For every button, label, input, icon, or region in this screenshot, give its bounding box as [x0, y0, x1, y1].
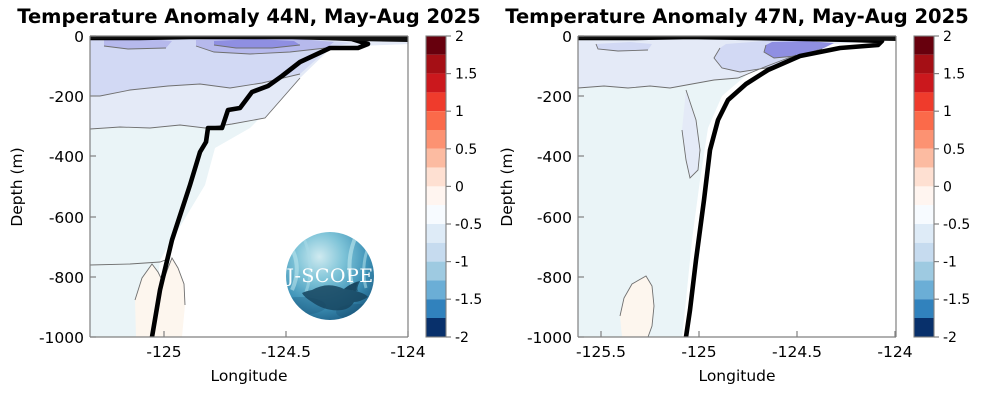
- colorbar-tick-label: -1.5: [943, 292, 970, 308]
- colorbar-tick-label: -1: [943, 255, 957, 271]
- panel-47n-colorbar: 2 1.5 1 0.5 0 -0.5 -1 -1.5 -2: [914, 29, 970, 346]
- panel-47n-ylabel: Depth (m): [500, 147, 516, 226]
- colorbar-tick-label: -2: [943, 330, 957, 346]
- colorbar-tick-label: -2: [455, 330, 469, 346]
- ytick-label: -800: [49, 269, 84, 287]
- ytick-label: 0: [74, 28, 84, 46]
- ytick-label: -600: [49, 209, 84, 227]
- temperature-anomaly-figure: Temperature Anomaly 44N, May-Aug 2025: [0, 0, 1000, 403]
- ytick-label: 0: [562, 28, 572, 46]
- panel-47n-plot-area: [578, 36, 896, 337]
- colorbar-tick-label: 0.5: [943, 142, 965, 158]
- colorbar-tick-label: 2: [943, 29, 952, 45]
- xtick-label: -125: [146, 343, 181, 361]
- panel-44n-svg: Temperature Anomaly 44N, May-Aug 2025: [0, 0, 500, 403]
- ytick-label: -400: [49, 148, 84, 166]
- panel-44n-xlabel: Longitude: [210, 367, 287, 385]
- panel-47n-svg: Temperature Anomaly 47N, May-Aug 2025: [500, 0, 1000, 403]
- colorbar-tick-label: 1: [943, 104, 952, 120]
- colorbar-tick-label: 1.5: [943, 67, 965, 83]
- colorbar-tick-label: -0.5: [455, 217, 482, 233]
- colorbar-swatches-44n: [426, 36, 446, 337]
- panel-44n-xaxis: -125 -124.5 -124 Longitude: [146, 331, 425, 385]
- panel-47n-title: Temperature Anomaly 47N, May-Aug 2025: [505, 5, 969, 28]
- panel-47n-yaxis: 0 -200 -400 -600 -800 -1000 Depth (m): [500, 28, 584, 347]
- colorbar-tick-label: 0: [455, 179, 464, 195]
- ytick-label: -200: [537, 88, 572, 106]
- panel-44n-yaxis: 0 -200 -400 -600 -800 -1000 Depth (m): [8, 28, 96, 347]
- ytick-label: -800: [537, 269, 572, 287]
- xtick-label: -124.5: [772, 343, 822, 361]
- panel-44n: Temperature Anomaly 44N, May-Aug 2025: [0, 0, 500, 403]
- colorbar-tick-label: -0.5: [943, 217, 970, 233]
- colorbar-tick-label: 0.5: [455, 142, 477, 158]
- colorbar-tick-label: 1.5: [455, 67, 477, 83]
- xtick-label: -124.5: [261, 343, 311, 361]
- colorbar-swatches-47n: [914, 36, 934, 337]
- ytick-label: -1000: [527, 329, 572, 347]
- ytick-label: -400: [537, 148, 572, 166]
- panel-44n-title: Temperature Anomaly 44N, May-Aug 2025: [17, 5, 481, 28]
- ytick-label: -200: [49, 88, 84, 106]
- panel-44n-colorbar: 2 1.5 1 0.5 0 -0.5 -1 -1.5 -2: [426, 29, 482, 346]
- panel-44n-ylabel: Depth (m): [8, 147, 26, 226]
- xtick-label: -124: [877, 343, 912, 361]
- ytick-label: -1000: [39, 329, 84, 347]
- colorbar-tick-label: -1.5: [455, 292, 482, 308]
- xtick-label: -124: [390, 343, 425, 361]
- colorbar-tick-label: -1: [455, 255, 469, 271]
- colorbar-tick-label: 2: [455, 29, 464, 45]
- panel-47n-xlabel: Longitude: [698, 367, 775, 385]
- panel-47n-xaxis: -125.5 -125 -124.5 -124 Longitude: [576, 331, 913, 385]
- colorbar-tick-label: 1: [455, 104, 464, 120]
- ytick-label: -600: [537, 209, 572, 227]
- panel-47n: Temperature Anomaly 47N, May-Aug 2025: [500, 0, 1000, 403]
- xtick-label: -125.5: [576, 343, 626, 361]
- xtick-label: -125: [681, 343, 716, 361]
- jscope-logo-text: J-SCOPE: [284, 265, 373, 287]
- colorbar-tick-label: 0: [943, 179, 952, 195]
